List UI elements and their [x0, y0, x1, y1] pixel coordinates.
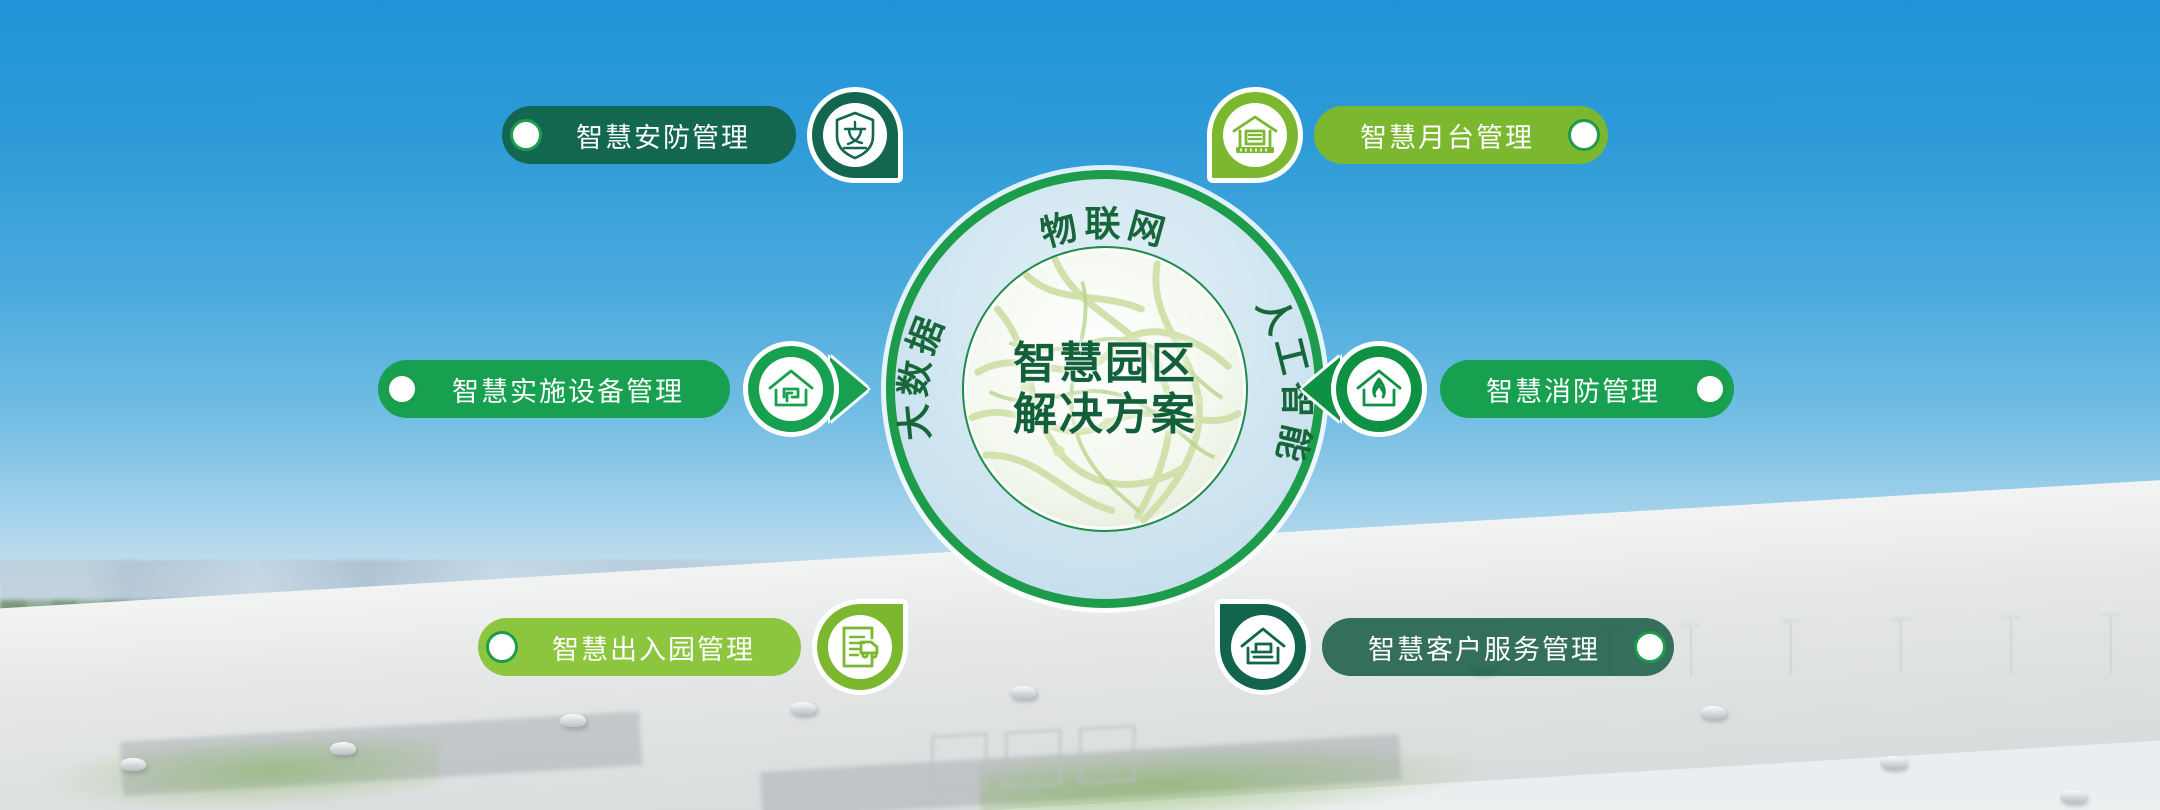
pill-cap-dot	[510, 119, 542, 151]
marker-facility[interactable]	[748, 346, 834, 432]
pill-platform[interactable]: 智慧月台管理	[1314, 106, 1608, 164]
hub-title: 智慧园区 解决方案	[964, 338, 1246, 440]
pill-label-security: 智慧安防管理	[576, 116, 750, 155]
hub-inner-circle: 智慧园区 解决方案	[962, 246, 1248, 532]
node-security[interactable]: 智慧安防管理	[502, 92, 898, 178]
node-access[interactable]: 智慧出入园管理	[478, 604, 903, 690]
pill-security[interactable]: 智慧安防管理	[502, 106, 796, 164]
marker-disc	[1231, 615, 1295, 679]
pill-customer[interactable]: 智慧客户服务管理	[1322, 618, 1674, 676]
marker-disc	[759, 357, 823, 421]
node-facility[interactable]: 智慧实施设备管理	[378, 346, 834, 432]
pill-label-platform: 智慧月台管理	[1360, 116, 1534, 155]
marker-security[interactable]	[812, 92, 898, 178]
pill-label-facility: 智慧实施设备管理	[452, 370, 684, 409]
pill-label-customer: 智慧客户服务管理	[1368, 628, 1600, 667]
pill-facility[interactable]: 智慧实施设备管理	[378, 360, 730, 418]
pill-access[interactable]: 智慧出入园管理	[478, 618, 801, 676]
pill-label-fire: 智慧消防管理	[1486, 370, 1660, 409]
marker-fire[interactable]	[1336, 346, 1422, 432]
pill-cap-dot	[486, 631, 518, 663]
marker-platform[interactable]	[1212, 92, 1298, 178]
hub-title-line-1: 智慧园区	[964, 338, 1246, 389]
central-hub: 物联网 大数据 人工智能	[886, 170, 1324, 608]
roof-painted-text: □□□	[929, 694, 1153, 810]
pill-fire[interactable]: 智慧消防管理	[1440, 360, 1734, 418]
house-service-icon	[1237, 621, 1289, 673]
marker-disc	[828, 615, 892, 679]
pill-cap-dot	[1634, 631, 1666, 663]
warehouse-dock-icon	[1229, 109, 1281, 161]
infographic-stage: □□□ 物联网 大数据 人工智能	[0, 0, 2160, 810]
pill-label-access: 智慧出入园管理	[552, 628, 755, 667]
marker-disc	[1223, 103, 1287, 167]
house-equipment-icon	[765, 363, 817, 415]
marker-disc	[1347, 357, 1411, 421]
marker-customer[interactable]	[1220, 604, 1306, 690]
pill-cap-dot	[386, 373, 418, 405]
shield-an-icon	[829, 109, 881, 161]
node-fire[interactable]: 智慧消防管理	[1336, 346, 1734, 432]
pill-cap-dot	[1568, 119, 1600, 151]
marker-access[interactable]	[817, 604, 903, 690]
document-truck-icon	[834, 621, 886, 673]
ring-label-left: 大数据	[892, 307, 953, 442]
house-flame-icon	[1353, 363, 1405, 415]
marker-disc	[823, 103, 887, 167]
node-customer[interactable]: 智慧客户服务管理	[1220, 604, 1674, 690]
hub-title-line-2: 解决方案	[964, 389, 1246, 440]
pill-cap-dot	[1694, 373, 1726, 405]
node-platform[interactable]: 智慧月台管理	[1212, 92, 1608, 178]
